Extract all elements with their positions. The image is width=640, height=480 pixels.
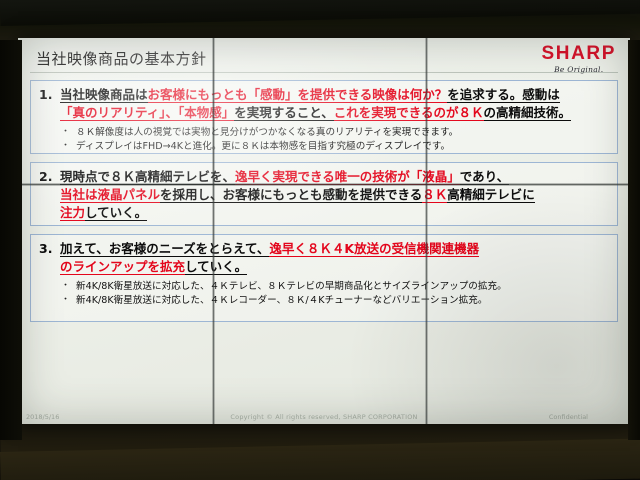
footer-date: 2018/5/16 bbox=[26, 413, 59, 421]
footer-copyright: Copyright © All rights reserved, SHARP C… bbox=[230, 413, 417, 421]
room-right-dark-edge bbox=[628, 40, 640, 440]
bullet-dot-icon: ・ bbox=[61, 140, 70, 154]
policy-item-1: 1. 当社映像商品はお客様にもっとも「感動」を提供できる映像は何か？を追求する。… bbox=[30, 80, 618, 154]
policy-item-2-text: 現時点で８Ｋ高精細テレビを、逸早く実現できる唯一の技術が「液晶」であり、 当社は… bbox=[60, 168, 535, 221]
policy-item-1-lead: 1. 当社映像商品はお客様にもっとも「感動」を提供できる映像は何か？を追求する。… bbox=[39, 86, 609, 122]
sub-bullet-text: ８Ｋ解像度は人の視覚では実物と見分けがつかなくなる真のリアリティを実現できます。 bbox=[76, 126, 458, 140]
bullet-dot-icon: ・ bbox=[61, 294, 70, 308]
policy-item-3-text: 加えて、お客様のニーズをとらえて、逸早く８Ｋ４K放送の受信機関連機器 のラインア… bbox=[60, 240, 479, 276]
seg-1-2: を追求する。感動は bbox=[447, 87, 560, 103]
seg-2-1: 逸早く実現できる唯一の技術が「液晶」 bbox=[235, 169, 460, 185]
list-item: ・ 新4K/8K衛星放送に対応した、４Ｋレコーダー、８Ｋ/４Kチューナーなどバリ… bbox=[61, 294, 609, 308]
title-divider bbox=[30, 72, 618, 73]
footer-classification: Confidential bbox=[549, 413, 588, 421]
seg-2-6: 高精細テレビに bbox=[447, 187, 535, 203]
seg-2-3: 当社は液晶パネル bbox=[60, 187, 160, 203]
seg-1-1: お客様にもっとも「感動」を提供できる映像は何か？ bbox=[148, 87, 448, 103]
room-left-dark-edge bbox=[0, 40, 22, 440]
seg-3-1: 逸早く８Ｋ４K放送の受信機関連機器 bbox=[269, 241, 479, 257]
seg-1-6: の高精細技術。 bbox=[484, 105, 572, 121]
bullet-dot-icon: ・ bbox=[61, 126, 70, 140]
sub-bullet-text: 新4K/8K衛星放送に対応した、４Ｋテレビ、８Ｋテレビの早期商品化とサイズライン… bbox=[76, 280, 507, 294]
video-wall-display: 当社映像商品の基本方針 SHARP Be Original. 1. 当社映像商品… bbox=[18, 38, 630, 424]
list-item: ・ 新4K/8K衛星放送に対応した、４Ｋテレビ、８Ｋテレビの早期商品化とサイズラ… bbox=[61, 280, 609, 294]
policy-item-1-text: 当社映像商品はお客様にもっとも「感動」を提供できる映像は何か？を追求する。感動は… bbox=[60, 86, 571, 122]
policy-item-1-number: 1. bbox=[39, 86, 56, 104]
policy-item-3: 3. 加えて、お客様のニーズをとらえて、逸早く８Ｋ４K放送の受信機関連機器 のラ… bbox=[30, 234, 618, 322]
seg-1-4: を実現すること、 bbox=[234, 105, 334, 121]
bullet-dot-icon: ・ bbox=[61, 280, 70, 294]
policy-item-2: 2. 現時点で８Ｋ高精細テレビを、逸早く実現できる唯一の技術が「液晶」であり、 … bbox=[30, 162, 618, 226]
seg-2-0: 現時点で８Ｋ高精細テレビを、 bbox=[60, 169, 235, 185]
seg-3-2: のラインアップを拡充 bbox=[60, 259, 185, 275]
seg-3-3: していく。 bbox=[185, 259, 247, 275]
policy-item-2-lead: 2. 現時点で８Ｋ高精細テレビを、逸早く実現できる唯一の技術が「液晶」であり、 … bbox=[39, 168, 609, 221]
sharp-wordmark: SHARP bbox=[541, 44, 616, 63]
seg-2-7: 注力 bbox=[60, 205, 85, 221]
page-title: 当社映像商品の基本方針 bbox=[36, 48, 207, 69]
seg-1-0: 当社映像商品は bbox=[60, 87, 148, 103]
seg-2-4: を採用し、お客様にもっとも感動を提供できる bbox=[160, 187, 422, 203]
seg-2-2: であり、 bbox=[460, 169, 509, 185]
policy-item-3-lead: 3. 加えて、お客様のニーズをとらえて、逸早く８Ｋ４K放送の受信機関連機器 のラ… bbox=[39, 240, 609, 276]
seg-1-5: これを実現できるのが８Ｋ bbox=[334, 105, 484, 121]
policy-item-2-number: 2. bbox=[39, 168, 56, 186]
sharp-logo: SHARP Be Original. bbox=[541, 44, 616, 74]
seg-1-3: 「真のリアリティ」、「本物感」 bbox=[60, 105, 234, 121]
seg-2-5: ８Ｋ bbox=[422, 187, 447, 203]
list-item: ・ ディスプレイはFHD→4Kと進化。更に８Ｋは本物感を目指す究極のディスプレイ… bbox=[61, 140, 609, 154]
sub-bullet-text: 新4K/8K衛星放送に対応した、４Ｋレコーダー、８Ｋ/４Kチューナーなどバリエー… bbox=[76, 294, 487, 308]
sub-bullet-text: ディスプレイはFHD→4Kと進化。更に８Ｋは本物感を目指す究極のディスプレイです… bbox=[76, 140, 450, 154]
seg-3-0: 加えて、お客様のニーズをとらえて、 bbox=[60, 241, 269, 257]
policy-item-1-subbullets: ・ ８Ｋ解像度は人の視覚では実物と見分けがつかなくなる真のリアリティを実現できま… bbox=[61, 126, 609, 155]
seg-2-8: していく。 bbox=[85, 205, 147, 221]
policy-item-3-number: 3. bbox=[39, 240, 56, 258]
policy-item-3-subbullets: ・ 新4K/8K衛星放送に対応した、４Ｋテレビ、８Ｋテレビの早期商品化とサイズラ… bbox=[61, 280, 609, 309]
presentation-slide: 当社映像商品の基本方針 SHARP Be Original. 1. 当社映像商品… bbox=[18, 38, 630, 424]
photo-of-presentation-screen: 当社映像商品の基本方針 SHARP Be Original. 1. 当社映像商品… bbox=[0, 0, 640, 480]
slide-footer: 2018/5/16 Copyright © All rights reserve… bbox=[18, 409, 630, 421]
list-item: ・ ８Ｋ解像度は人の視覚では実物と見分けがつかなくなる真のリアリティを実現できま… bbox=[61, 126, 609, 140]
